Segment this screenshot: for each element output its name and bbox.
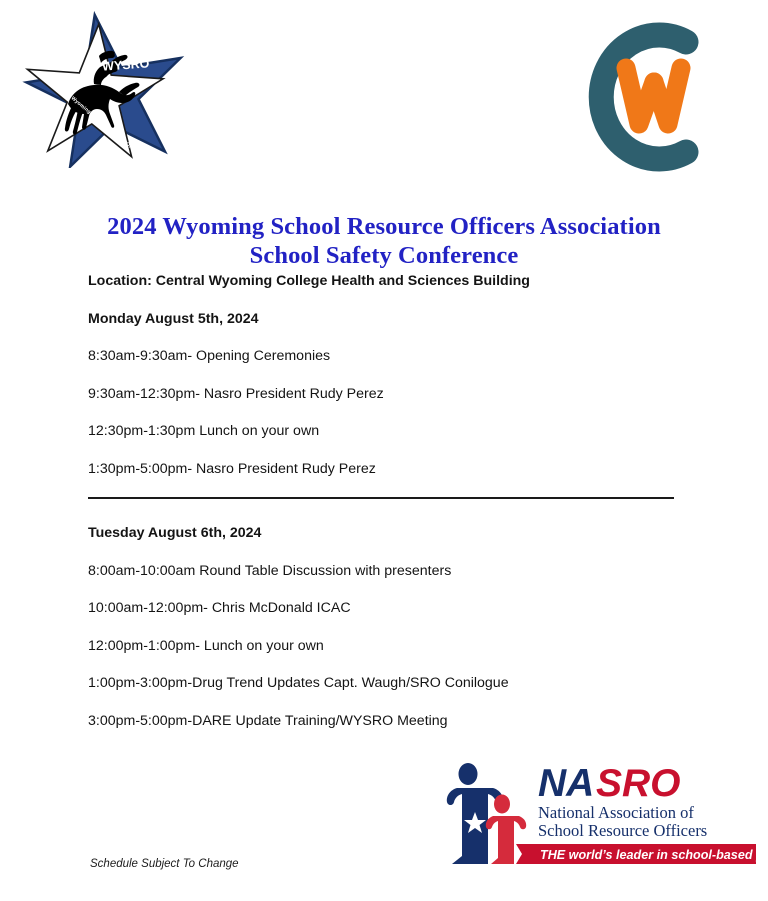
schedule-item: 9:30am-12:30pm- Nasro President Rudy Per… [88, 385, 688, 403]
title-line-2: School Safety Conference [0, 241, 768, 270]
nasro-wordmark-sro: SRO [596, 762, 681, 805]
schedule-item: 8:30am-9:30am- Opening Ceremonies [88, 347, 688, 365]
day-heading-tuesday: Tuesday August 6th, 2024 [88, 524, 688, 542]
page-title: 2024 Wyoming School Resource Officers As… [0, 212, 768, 270]
title-line-1: 2024 Wyoming School Resource Officers As… [0, 212, 768, 241]
schedule-item: 3:00pm-5:00pm-DARE Update Training/WYSRO… [88, 712, 688, 730]
footer-note: Schedule Subject To Change [90, 858, 239, 870]
schedule-item: 8:00am-10:00am Round Table Discussion wi… [88, 562, 688, 580]
section-divider [88, 497, 674, 499]
schedule-item: 12:00pm-1:00pm- Lunch on your own [88, 637, 688, 655]
schedule-item: 10:00am-12:00pm- Chris McDonald ICAC [88, 599, 688, 617]
nasro-subtitle-line-2: School Resource Officers [538, 821, 707, 840]
location-line: Location: Central Wyoming College Health… [88, 272, 688, 290]
wysro-star-logo: WYSRO Wyoming School Resource Officer As… [16, 8, 186, 168]
nasro-tagline-text: THE world’s leader in school-based polic… [540, 848, 756, 862]
schedule-item: 1:00pm-3:00pm-Drug Trend Updates Capt. W… [88, 674, 688, 692]
schedule-body: Location: Central Wyoming College Health… [88, 272, 688, 749]
letter-w-shape [626, 68, 681, 124]
central-wyoming-college-logo [566, 8, 720, 186]
nasro-subtitle-line-1: National Association of [538, 803, 694, 822]
schedule-item: 1:30pm-5:00pm- Nasro President Rudy Pere… [88, 460, 688, 478]
day-heading-monday: Monday August 5th, 2024 [88, 310, 688, 328]
schedule-item: 12:30pm-1:30pm Lunch on your own [88, 422, 688, 440]
nasro-logo: NA SRO National Association of School Re… [444, 760, 756, 866]
nasro-child-figure [486, 795, 526, 865]
nasro-wordmark-na: NA [538, 762, 594, 805]
